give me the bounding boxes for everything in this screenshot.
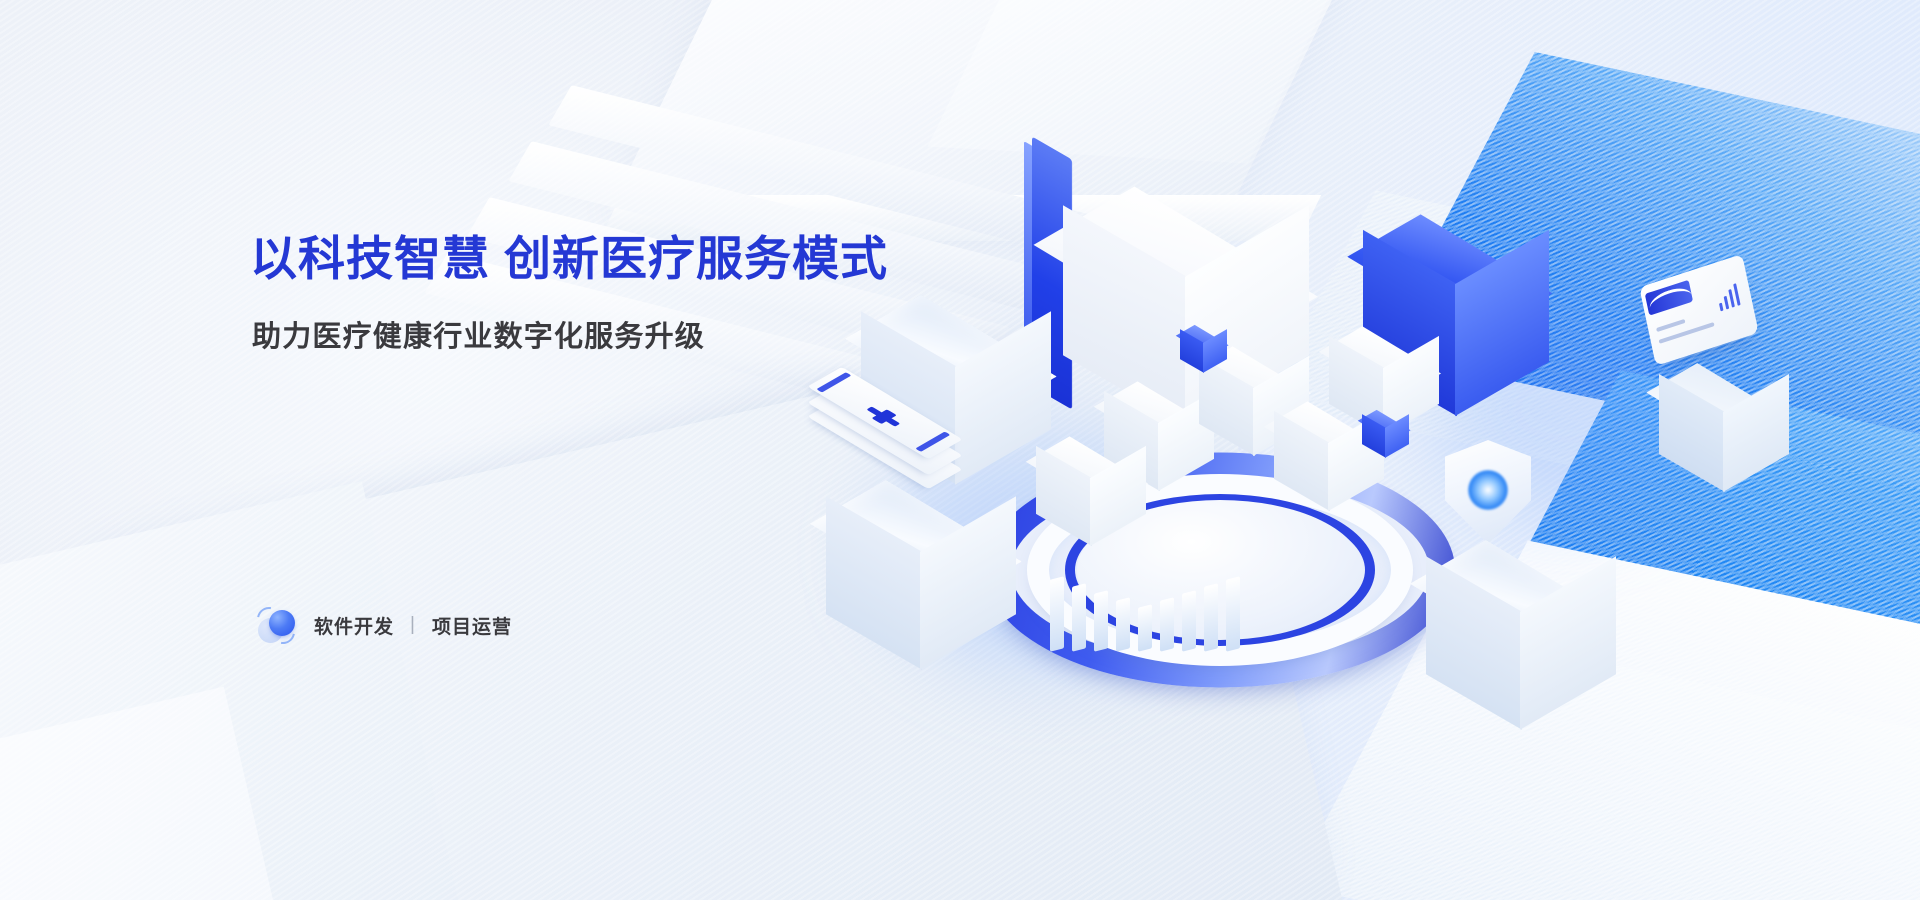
ring-fin [1072,583,1086,651]
dashboard-line-1 [1656,319,1685,332]
page-title: 以科技智慧 创新医疗服务模式 [250,232,888,286]
small-blue-cube-a [1178,320,1230,378]
ring-fin [1138,604,1152,651]
small-blue-cube-b [1360,405,1412,463]
ring-fin [1204,583,1218,651]
ring-fin [1050,576,1064,651]
service-tag-separator: | [410,614,416,636]
service-tag-labels: 软件开发 | 项目运营 [314,612,512,639]
service-tag-primary[interactable]: 软件开发 [314,612,394,639]
orbit-sphere-icon [256,605,296,645]
frosted-cube-under-shield [1420,520,1570,680]
service-tag-secondary[interactable]: 项目运营 [432,612,512,639]
frosted-cube-under-dashboard [1655,350,1795,500]
ring-fin [1226,576,1240,651]
hero-text-block: 以科技智慧 创新医疗服务模式 助力医疗健康行业数字化服务升级 软件开发 | 项目… [250,0,1010,900]
ring-fin [1116,597,1130,651]
dashboard-bar-chart-icon [1716,283,1741,311]
ring-fin [1160,597,1174,651]
glass-cube-front [1032,425,1182,585]
service-tags: 软件开发 | 项目运营 [256,605,512,645]
page-subtitle: 助力医疗健康行业数字化服务升级 [252,313,705,355]
ring-fin [1094,590,1108,651]
hero-banner: 以科技智慧 创新医疗服务模式 助力医疗健康行业数字化服务升级 软件开发 | 项目… [0,0,1920,900]
ring-fin [1182,590,1196,651]
